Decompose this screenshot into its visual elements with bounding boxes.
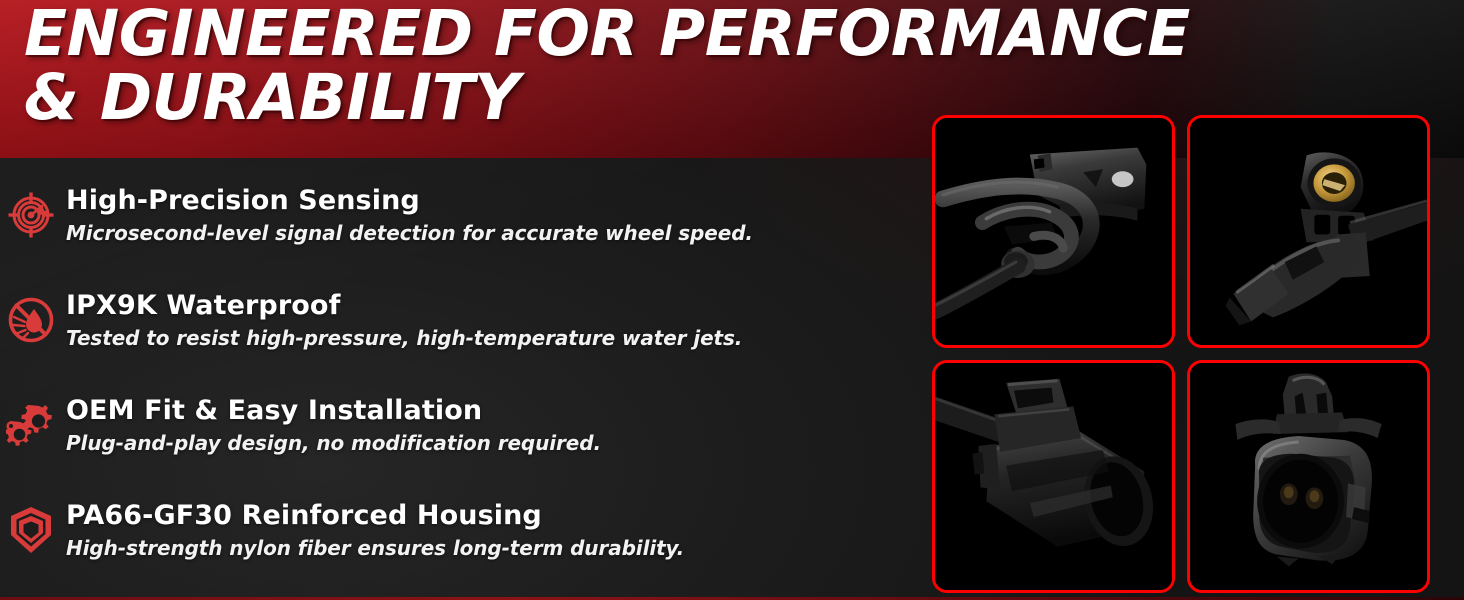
- product-photo-connector-two-pin-front-view[interactable]: [1187, 360, 1430, 593]
- feature-list: High-Precision Sensing Microsecond-level…: [0, 176, 900, 596]
- feature-item-pa66-gf30-reinforced-housing: PA66-GF30 Reinforced Housing High-streng…: [0, 491, 900, 596]
- feature-text-group: High-Precision Sensing Microsecond-level…: [66, 176, 900, 248]
- feature-text-group: IPX9K Waterproof Tested to resist high-p…: [66, 281, 900, 353]
- feature-subtitle: High-strength nylon fiber ensures long-t…: [66, 533, 900, 563]
- product-feature-banner: ENGINEERED FOR PERFORMANCE & DURABILITY: [0, 0, 1464, 600]
- feature-item-oem-fit-easy-installation: OEM Fit & Easy Installation Plug-and-pla…: [0, 386, 900, 491]
- product-photo-abs-sensor-with-bracket-and-cable[interactable]: [932, 115, 1175, 348]
- feature-text-group: OEM Fit & Easy Installation Plug-and-pla…: [66, 386, 900, 458]
- feature-title: IPX9K Waterproof: [66, 289, 900, 323]
- product-photo-abs-sensor-body-with-brass-bushing[interactable]: [1187, 115, 1430, 348]
- feature-item-ipx9k-waterproof: IPX9K Waterproof Tested to resist high-p…: [0, 281, 900, 386]
- feature-item-high-precision-sensing: High-Precision Sensing Microsecond-level…: [0, 176, 900, 281]
- feature-title: High-Precision Sensing: [66, 184, 900, 218]
- feature-title: OEM Fit & Easy Installation: [66, 394, 900, 428]
- product-photo-connector-housing-side-view[interactable]: [932, 360, 1175, 593]
- shield-badge-icon: [6, 505, 56, 555]
- feature-title: PA66-GF30 Reinforced Housing: [66, 499, 900, 533]
- page-title: ENGINEERED FOR PERFORMANCE & DURABILITY: [24, 2, 1444, 130]
- feature-subtitle: Tested to resist high-pressure, high-tem…: [66, 323, 900, 353]
- feature-text-group: PA66-GF30 Reinforced Housing High-streng…: [66, 491, 900, 563]
- product-photo-grid: [932, 115, 1434, 593]
- no-water-droplet-icon: [6, 295, 56, 345]
- feature-subtitle: Microsecond-level signal detection for a…: [66, 218, 900, 248]
- gears-icon: [6, 400, 56, 450]
- feature-subtitle: Plug-and-play design, no modification re…: [66, 428, 900, 458]
- crosshair-target-icon: [6, 190, 56, 240]
